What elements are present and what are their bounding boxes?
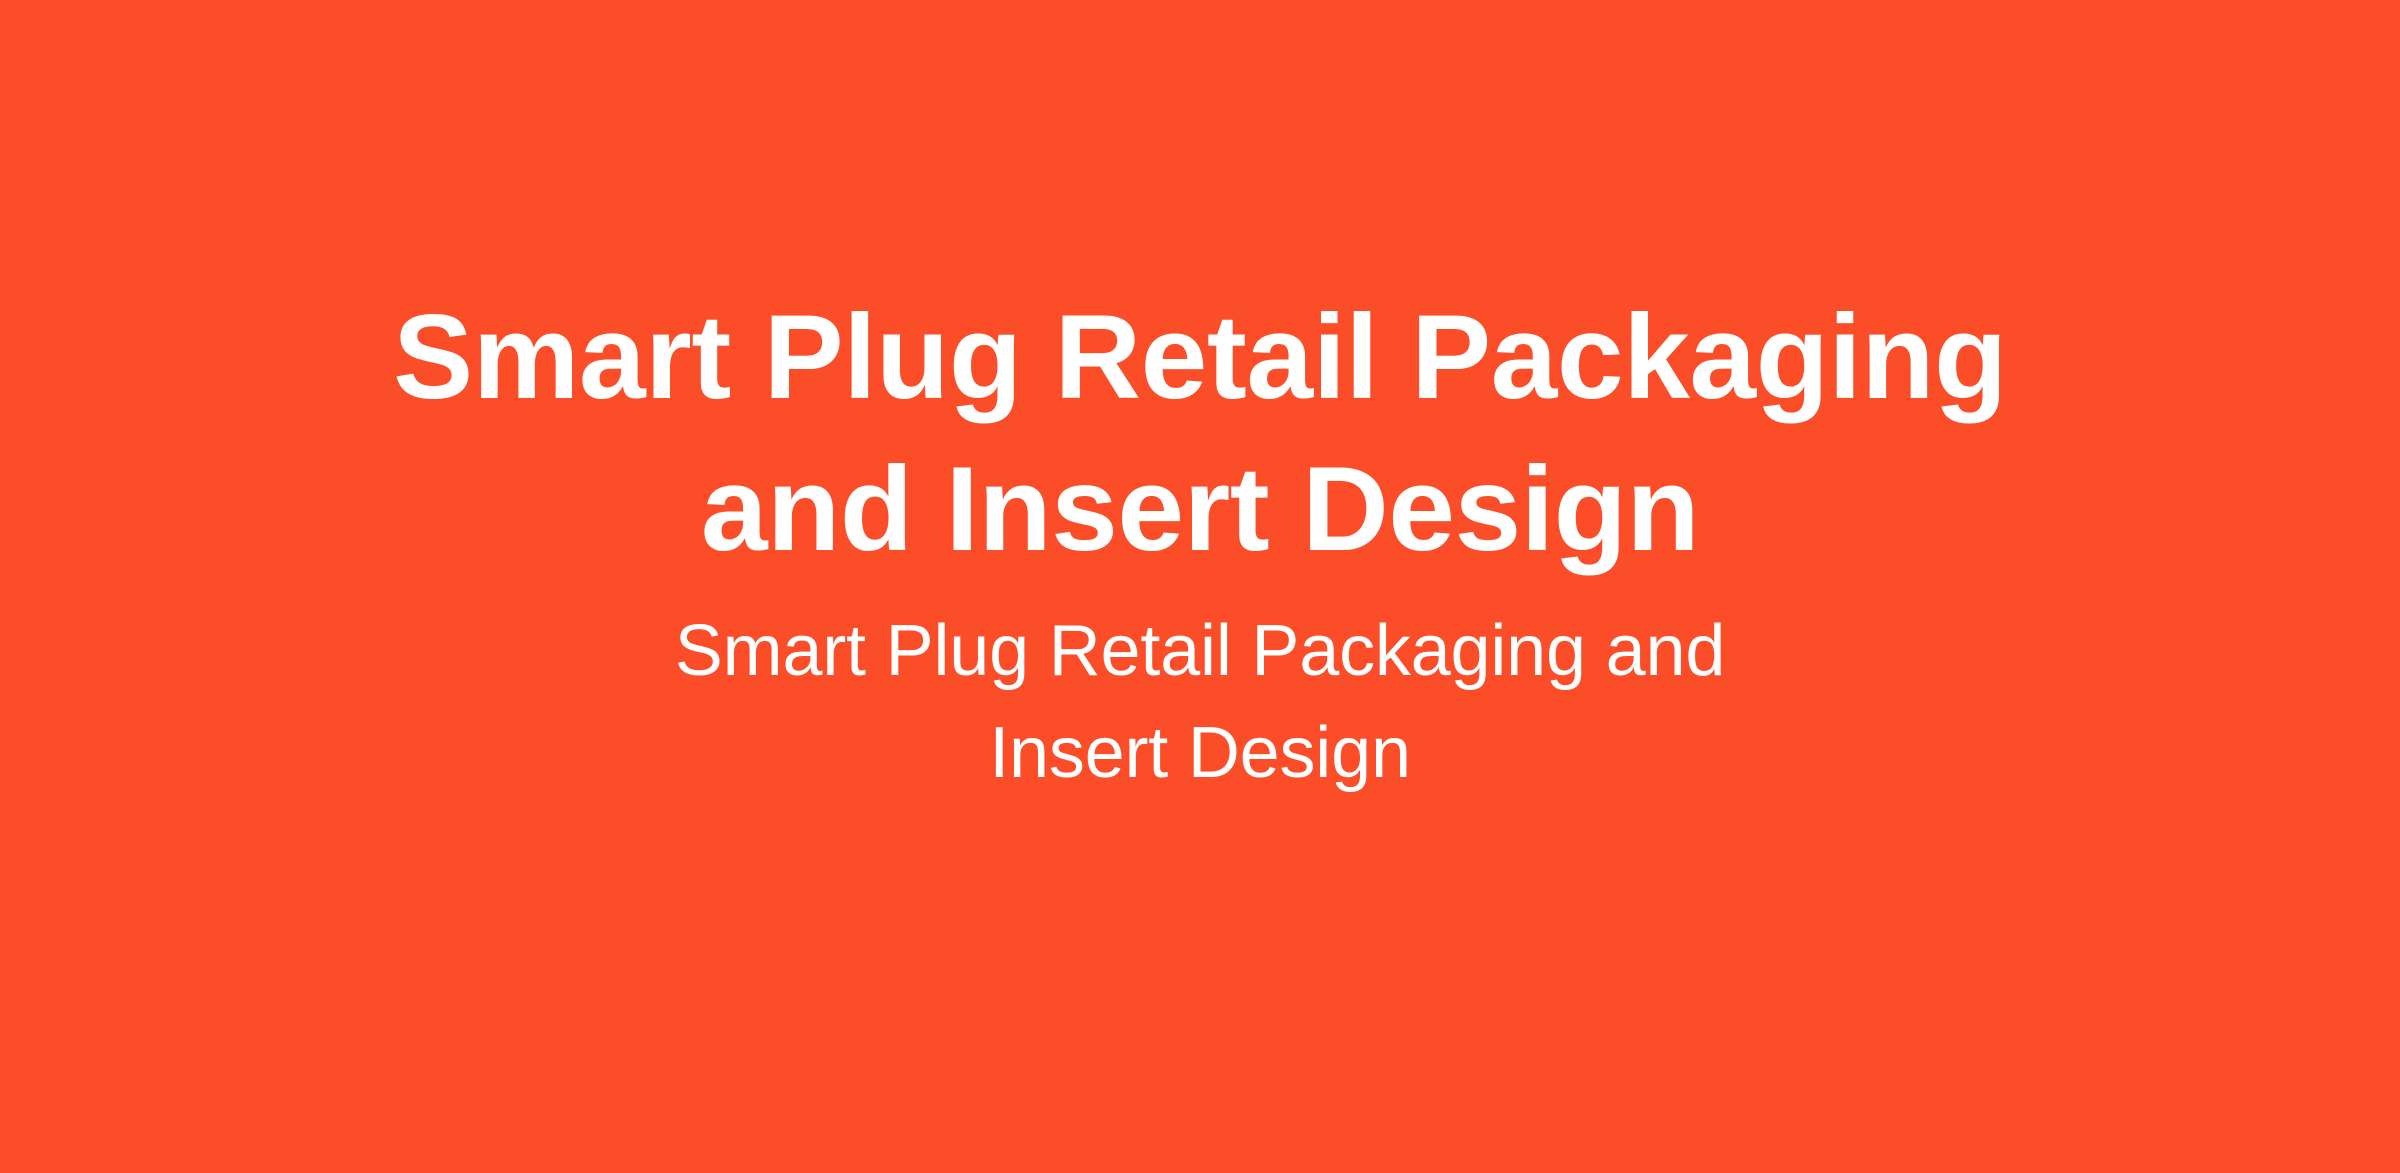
page-title: Smart Plug Retail Packaging and Insert D… (340, 281, 2060, 586)
page-subtitle: Smart Plug Retail Packaging and Insert D… (645, 600, 1755, 804)
title-slide: Smart Plug Retail Packaging and Insert D… (0, 0, 2400, 1173)
slide-content-block: Smart Plug Retail Packaging and Insert D… (0, 281, 2400, 804)
